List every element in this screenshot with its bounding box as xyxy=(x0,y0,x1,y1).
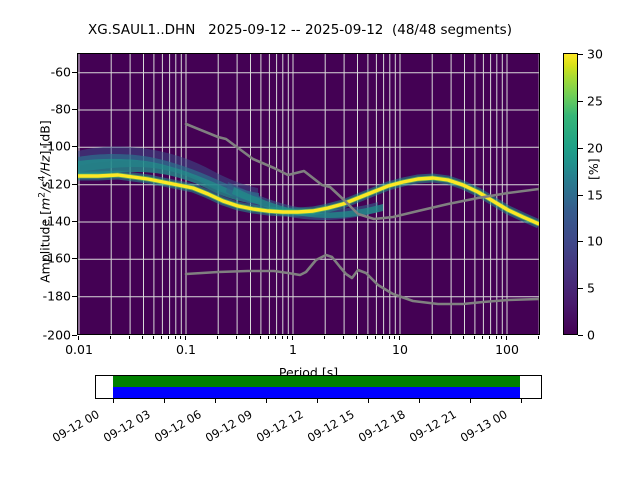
xtick-label: 1 xyxy=(289,342,297,357)
colorbar-tick-label: 5 xyxy=(587,281,595,296)
xtick-minor xyxy=(161,336,162,339)
xtick-minor xyxy=(343,336,344,339)
xtick-major xyxy=(185,336,186,340)
time-tick xyxy=(266,399,267,403)
xtick-minor xyxy=(389,336,390,339)
ytick xyxy=(72,146,77,147)
time-coverage-bar xyxy=(95,375,542,399)
ppsd-figure: XG.SAUL1..DHN 2025-09-12 -- 2025-09-12 (… xyxy=(0,0,640,480)
colorbar-tick xyxy=(578,148,583,149)
xtick-label: 100 xyxy=(495,342,519,357)
ytick xyxy=(72,184,77,185)
ppsd-canvas xyxy=(78,54,539,334)
xtick-minor xyxy=(175,336,176,339)
ytick xyxy=(72,258,77,259)
grid-lines xyxy=(78,54,539,334)
y-axis-label: Amplitude [m2/s4/Hz] [dB] xyxy=(37,61,52,343)
xtick-minor xyxy=(249,336,250,339)
time-tick-label: 09-12 09 xyxy=(203,407,255,445)
xtick-minor xyxy=(236,336,237,339)
colorbar-tick xyxy=(578,195,583,196)
ytick-label: -80 xyxy=(51,102,71,117)
xtick-label: 10 xyxy=(392,342,408,357)
time-tick xyxy=(113,399,114,403)
time-tick-label: 09-12 03 xyxy=(101,407,153,445)
time-tick xyxy=(317,399,318,403)
colorbar-tick-label: 30 xyxy=(587,47,603,62)
xtick-minor xyxy=(474,336,475,339)
xtick-minor xyxy=(268,336,269,339)
xtick-major xyxy=(506,336,507,340)
xtick-label: 0.01 xyxy=(65,342,93,357)
xtick-minor xyxy=(275,336,276,339)
time-tick-label: 09-12 12 xyxy=(254,407,306,445)
xtick-minor xyxy=(375,336,376,339)
time-tick xyxy=(164,399,165,403)
time-tick-label: 09-12 15 xyxy=(305,407,357,445)
xtick-minor xyxy=(129,336,130,339)
time-tick-label: 09-12 21 xyxy=(407,407,459,445)
ytick xyxy=(72,109,77,110)
xtick-minor xyxy=(324,336,325,339)
colorbar-tick xyxy=(578,335,583,336)
xtick-minor xyxy=(382,336,383,339)
xtick-minor xyxy=(180,336,181,339)
xtick-minor xyxy=(282,336,283,339)
xtick-minor xyxy=(260,336,261,339)
xtick-minor xyxy=(431,336,432,339)
xtick-minor xyxy=(394,336,395,339)
time-tick-label: 09-12 00 xyxy=(50,407,102,445)
ytick xyxy=(72,221,77,222)
colorbar xyxy=(563,53,578,335)
page-title: XG.SAUL1..DHN 2025-09-12 -- 2025-09-12 (… xyxy=(0,22,600,38)
time-tick-label: 09-13 00 xyxy=(458,407,510,445)
xtick-label: 0.1 xyxy=(176,342,196,357)
ytick xyxy=(72,72,77,73)
xtick-minor xyxy=(142,336,143,339)
time-tick xyxy=(470,399,471,403)
xtick-major xyxy=(78,336,79,340)
colorbar-tick xyxy=(578,101,583,102)
time-tick xyxy=(215,399,216,403)
colorbar-tick-label: 0 xyxy=(587,328,595,343)
colorbar-tick-label: 15 xyxy=(587,188,603,203)
ppsd-plot-area xyxy=(77,53,540,335)
time-tick-label: 09-12 18 xyxy=(356,407,408,445)
colorbar-tick-label: 10 xyxy=(587,234,603,249)
colorbar-tick-label: 25 xyxy=(587,94,603,109)
xtick-minor xyxy=(217,336,218,339)
coverage-segment-blue xyxy=(113,387,520,398)
xtick-minor xyxy=(356,336,357,339)
xtick-minor xyxy=(463,336,464,339)
xtick-minor xyxy=(287,336,288,339)
time-tick xyxy=(521,399,522,403)
xtick-major xyxy=(399,336,400,340)
colorbar-label: [%] xyxy=(586,140,601,180)
xtick-minor xyxy=(496,336,497,339)
xtick-major xyxy=(292,336,293,340)
colorbar-tick xyxy=(578,241,583,242)
xtick-minor xyxy=(482,336,483,339)
coverage-segment-green xyxy=(113,376,520,387)
xtick-minor xyxy=(501,336,502,339)
xtick-minor xyxy=(168,336,169,339)
time-tick xyxy=(368,399,369,403)
ytick-label: -60 xyxy=(51,65,71,80)
xtick-minor xyxy=(450,336,451,339)
ytick xyxy=(72,335,77,336)
xtick-minor xyxy=(538,336,539,339)
colorbar-tick xyxy=(578,54,583,55)
xtick-minor xyxy=(153,336,154,339)
ytick xyxy=(72,296,77,297)
time-tick xyxy=(419,399,420,403)
time-tick-label: 09-12 06 xyxy=(152,407,204,445)
colorbar-tick xyxy=(578,288,583,289)
xtick-minor xyxy=(367,336,368,339)
xtick-minor xyxy=(110,336,111,339)
xtick-minor xyxy=(489,336,490,339)
